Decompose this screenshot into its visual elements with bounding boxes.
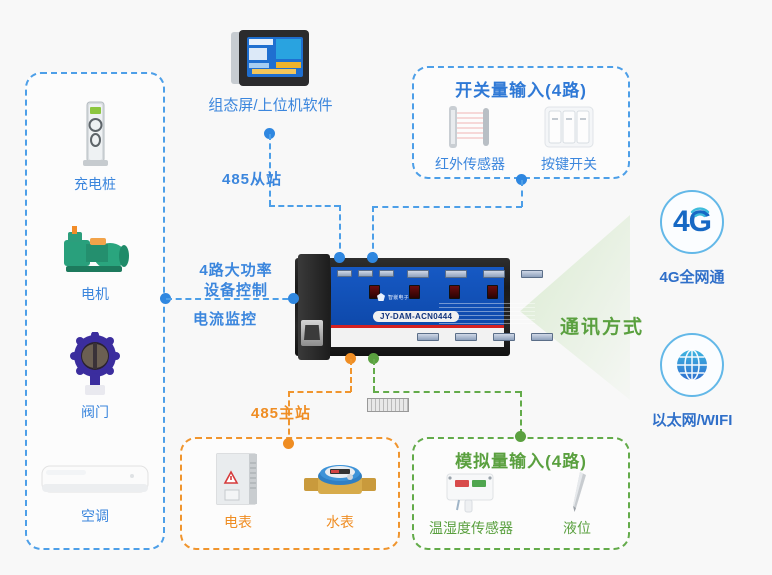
line-orange-left: [288, 391, 351, 393]
line-switch-left: [372, 206, 522, 208]
label-power-control-line2: 设备控制: [186, 281, 286, 301]
4g-signal-icon: [689, 203, 711, 223]
line-switch-down: [521, 180, 523, 207]
item-hmi-panel: 组态屏/上位机软件: [198, 28, 343, 115]
line-green-down: [373, 359, 375, 392]
electric-meter-cabinet-icon: [188, 450, 288, 508]
label-current-monitor: 电流监控: [193, 308, 257, 329]
node-analog-input-group: [515, 431, 526, 442]
db9-serial-port: [301, 320, 323, 346]
relay-indicator-4: [487, 285, 498, 299]
item-liquid-level-probe: 液位: [532, 470, 622, 538]
brand-mark-icon: [377, 293, 385, 301]
label-power-control-line1: 4路大功率: [186, 261, 286, 281]
liquid-level-probe-icon: [532, 470, 622, 514]
node-rs485-master-group: [283, 438, 294, 449]
line-green-right: [373, 391, 521, 393]
temp-humidity-sensor-icon: [416, 470, 526, 514]
comm-option-ethernet-label: 以太网/WIFI: [627, 409, 757, 430]
line-hmi-to-device: [339, 205, 341, 258]
ev-charging-pile-icon: [35, 100, 155, 170]
line-green-to-group: [520, 391, 522, 435]
screw-terminal-block: [367, 398, 409, 412]
relay-indicator-3: [449, 285, 460, 299]
push-button-switch-icon: [519, 104, 619, 150]
item-label: 电表: [188, 512, 288, 532]
item-label: 红外传感器: [420, 154, 520, 174]
comm-option-4g-circle: 4G: [660, 190, 724, 254]
comm-wedge-decoration: [520, 215, 630, 400]
item-electric-meter: 电表: [188, 450, 288, 532]
label-485-master: 485主站: [251, 402, 311, 423]
node-device-left: [288, 293, 299, 304]
item-water-meter: 水表: [290, 450, 390, 532]
device-lower-panel: [331, 325, 504, 347]
water-pump-motor-icon: [35, 224, 155, 280]
comm-option-4g-label: 4G全网通: [627, 266, 757, 287]
diagram-canvas: 充电桩 电机: [0, 0, 772, 575]
item-label: 按键开关: [519, 154, 619, 174]
item-label: 温湿度传感器: [416, 518, 526, 538]
item-ev-charging-pile: 充电桩: [35, 100, 155, 194]
item-water-pump-motor: 电机: [35, 224, 155, 304]
terminal-row-top-left: [337, 270, 394, 277]
device-front-panel: 智嵌电子 JY-DAM-ACN0444: [331, 267, 504, 325]
water-meter-icon: [290, 450, 390, 508]
label-power-control: 4路大功率 设备控制: [186, 261, 286, 301]
terminal-row-bottom: [417, 333, 553, 341]
comm-option-ethernet-circle: [660, 333, 724, 397]
item-butterfly-valve: 阀门: [35, 332, 155, 422]
line-orange-down: [350, 359, 352, 392]
device-brand-logo: 智嵌电子: [377, 293, 409, 301]
terminal-row-top-right: [407, 270, 543, 278]
central-controller-device: 智嵌电子 JY-DAM-ACN0444: [295, 258, 510, 356]
butterfly-valve-icon: [35, 332, 155, 398]
item-infrared-sensor: 红外传感器: [420, 104, 520, 174]
line-hmi-right: [269, 205, 340, 207]
communication-heading: 通讯方式: [560, 312, 644, 339]
item-label: 充电桩: [35, 174, 155, 194]
item-label: 组态屏/上位机软件: [198, 94, 343, 115]
item-label: 电机: [35, 284, 155, 304]
group-switch-input-title: 开关量输入(4路): [412, 76, 630, 101]
item-label: 空调: [25, 506, 165, 526]
globe-network-icon: [672, 345, 712, 385]
item-push-button-switch: 按键开关: [519, 104, 619, 174]
brand-name: 智嵌电子: [388, 294, 409, 301]
air-conditioner-icon: [25, 456, 165, 502]
infrared-sensor-icon: [420, 104, 520, 150]
item-label: 阀门: [35, 402, 155, 422]
group-analog-input-title: 模拟量输入(4路): [412, 447, 630, 472]
relay-indicator-2: [409, 285, 420, 299]
node-device-top-right: [367, 252, 378, 263]
item-label: 液位: [532, 518, 622, 538]
label-485-slave: 485从站: [222, 168, 282, 189]
device-model-label: JY-DAM-ACN0444: [373, 311, 459, 322]
item-temp-humidity-sensor: 温湿度传感器: [416, 470, 526, 538]
line-switch-to-device: [372, 206, 374, 258]
item-air-conditioner: 空调: [25, 456, 165, 526]
node-device-top-left: [334, 252, 345, 263]
item-label: 水表: [290, 512, 390, 532]
hmi-touch-panel-icon: [198, 28, 343, 90]
